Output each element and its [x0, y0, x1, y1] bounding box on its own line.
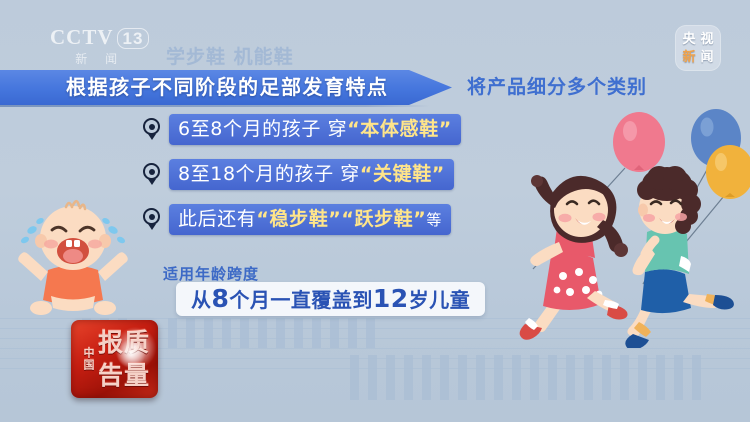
watermark-char-3: 新 [682, 51, 695, 64]
bullet-row-3: 此后还有“稳步鞋”“跃步鞋”等 [142, 203, 461, 235]
pink-balloon [613, 112, 665, 172]
bullet-2-quote: “关键鞋” [360, 163, 445, 185]
bullet-3-suffix: 等 [426, 211, 442, 229]
cctv-channel-logo: CCTV13 新 闻 [50, 27, 149, 65]
children-with-balloons-illustration [515, 96, 750, 348]
age-from: 8 [212, 284, 230, 313]
bullet-3-quote: “稳步鞋”“跃步鞋” [256, 208, 426, 230]
baby-head [35, 201, 111, 270]
bullet-pill-2: 8至18个月的孩子 穿“关键鞋” [169, 159, 454, 190]
bullet-pill-3: 此后还有“稳步鞋”“跃步鞋”等 [169, 204, 451, 235]
cctv-logo-number: 13 [117, 28, 150, 49]
bullet-1-quote: “本体感鞋” [347, 118, 452, 140]
cctv-news-watermark: 央 视 新 闻 [675, 25, 721, 71]
headline-banner-text: 根据孩子不同阶段的足部发育特点 [66, 70, 389, 105]
seal-glyph-3: 告 [98, 360, 123, 392]
age-to: 12 [373, 284, 409, 313]
background-bars-right [350, 355, 701, 400]
cctv-logo-sub: 新 闻 [50, 53, 149, 65]
age-prefix: 从 [191, 288, 212, 312]
target-pin-icon [142, 116, 162, 142]
bullet-row-2: 8至18个月的孩子 穿“关键鞋” [142, 158, 461, 190]
girl-figure [520, 175, 628, 340]
faded-subtitle: 学步鞋 机能鞋 [166, 42, 294, 69]
headline-banner-underline [0, 105, 430, 107]
bullet-1-prefix: 6至8个月的孩子 穿 [178, 118, 347, 140]
age-range-value: 从8个月一直覆盖到12岁儿童 [176, 282, 485, 316]
seal-side-glyph: 中国 [80, 327, 97, 391]
bullet-3-prefix: 此后还有 [178, 208, 256, 230]
age-range-label: 适用年龄跨度 [163, 263, 259, 284]
cctv-logo-name: CCTV [50, 25, 114, 49]
bullet-pill-1: 6至8个月的孩子 穿“本体感鞋” [169, 114, 461, 145]
broadcast-frame: CCTV13 新 闻 央 视 新 闻 学步鞋 机能鞋 根据孩子不同阶段的足部发育… [0, 0, 750, 422]
bullet-list: 6至8个月的孩子 穿“本体感鞋” 8至18个月的孩子 穿“关键鞋” 此后还有“稳… [142, 113, 461, 248]
quality-report-seal: 报 质 中国 告 量 [71, 320, 158, 398]
watermark-char-2: 视 [700, 33, 713, 46]
age-middle: 个月一直覆盖到 [229, 288, 373, 312]
bullet-row-1: 6至8个月的孩子 穿“本体感鞋” [142, 113, 461, 145]
bullet-2-prefix: 8至18个月的孩子 穿 [178, 163, 360, 185]
age-suffix: 岁儿童 [409, 288, 471, 312]
target-pin-icon [142, 161, 162, 187]
target-pin-icon [142, 206, 162, 232]
watermark-char-4: 闻 [700, 51, 713, 64]
crying-baby-illustration [18, 196, 128, 318]
watermark-char-1: 央 [682, 33, 695, 46]
seal-glyph-1: 报 [98, 327, 123, 359]
background-bars-mid [168, 318, 375, 348]
seal-glyph-4: 量 [124, 360, 149, 392]
seal-glyph-2: 质 [124, 327, 149, 359]
